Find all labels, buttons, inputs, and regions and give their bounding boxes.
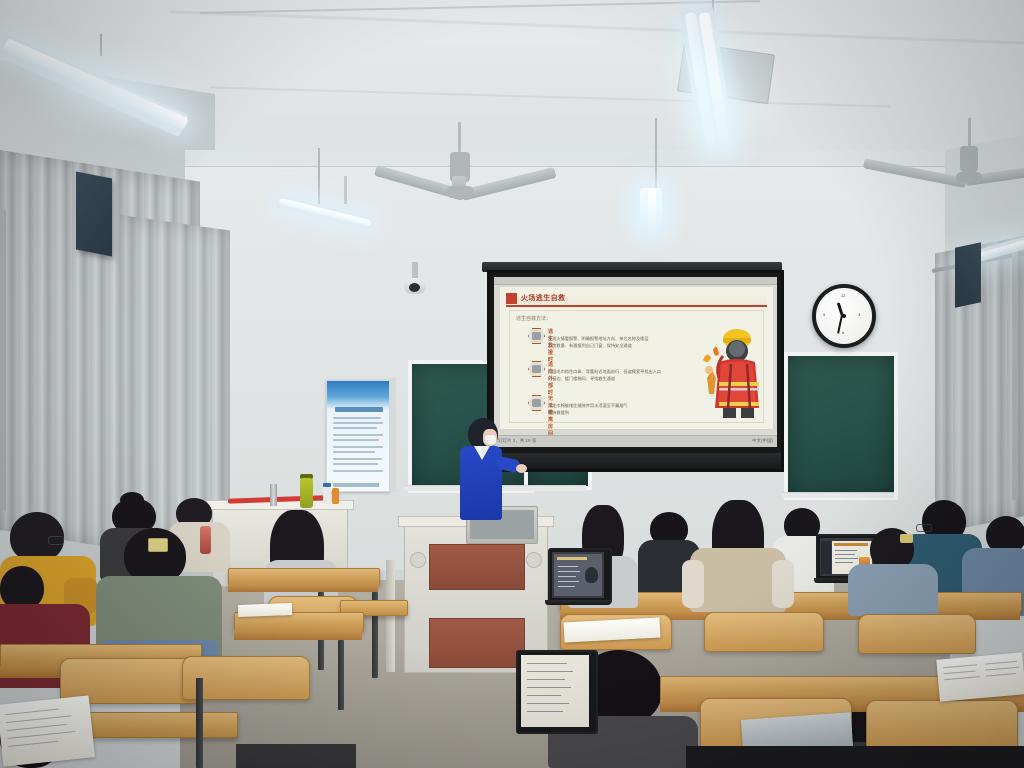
laptop-screen xyxy=(521,655,589,727)
chalkboard-right-panel xyxy=(784,352,898,500)
laptop-slide-text-line xyxy=(558,571,580,572)
laptop-doc-text-line xyxy=(527,695,561,696)
powerpoint-window: 火场逃生自救 逃生自救方法： 逃生救援时 发现火情要报警、明确报警地址方向、单位… xyxy=(494,277,777,447)
laptop-doc-text-line xyxy=(527,711,563,712)
clock-face: 12 3 6 9 xyxy=(818,290,870,342)
firefighter-illustration xyxy=(693,326,759,418)
laptop-doc-text-line xyxy=(527,687,571,688)
desk-apron xyxy=(234,630,362,640)
language-status: 中文(中国) xyxy=(752,438,773,444)
laptop-doc-text-line xyxy=(527,679,565,680)
poster-text-line xyxy=(333,446,383,448)
slide-bullet-3-line-1: 用毛巾棉被堵住缝隙并用水浸湿至不漏烟气 xyxy=(548,403,628,409)
light-suspension-rod xyxy=(100,34,102,56)
desk-apron xyxy=(228,584,378,592)
handwritten-note-bottom-left[interactable] xyxy=(0,695,95,766)
instructor-hand xyxy=(516,464,527,473)
poster-frame-strip xyxy=(390,378,396,492)
slide-title-bar: 火场逃生自救 xyxy=(506,292,767,307)
book-text-line xyxy=(985,661,1017,665)
clock-numeral: 9 xyxy=(823,312,825,317)
book-text-line xyxy=(943,664,977,668)
student-glasses-icon xyxy=(48,536,64,545)
lectern-speaker-grille-left xyxy=(410,552,426,568)
laptop-slide-title-bar xyxy=(834,543,868,546)
student-torso xyxy=(848,564,938,616)
blue-notice-poster xyxy=(326,380,390,492)
classroom-photo: 火场逃生自救 逃生自救方法： 逃生救援时 发现火情要报警、明确报警地址方向、单位… xyxy=(0,0,1024,768)
projector-screen[interactable]: 火场逃生自救 逃生自救方法： 逃生救援时 发现火情要报警、明确报警地址方向、单位… xyxy=(487,270,784,472)
laptop-base xyxy=(545,600,611,605)
open-textbook-right[interactable] xyxy=(936,652,1024,701)
poster-text-line xyxy=(333,439,379,441)
laptop-slide-text-line xyxy=(558,576,576,577)
poster-text-line xyxy=(333,422,383,424)
slide-surface: 火场逃生自救 逃生自救方法： 逃生救援时 发现火情要报警、明确报警地址方向、单位… xyxy=(499,286,774,430)
fan-hub-cap xyxy=(956,172,982,183)
student-hair-clip-icon xyxy=(900,534,913,543)
tube-light-mid-b xyxy=(648,188,656,232)
orange-bottle xyxy=(332,488,339,504)
poster-title-band xyxy=(335,407,383,412)
laptop-thumbnail-pane xyxy=(821,541,831,574)
laptop-doc-text-line xyxy=(527,663,567,664)
wall-cornice xyxy=(185,150,945,167)
slide-bullet-1-line-2: 及房数量、有通报到自己门窗、保持安全通道 xyxy=(548,343,632,349)
window-frame-left xyxy=(0,210,6,511)
stacked-papers-left[interactable] xyxy=(238,603,292,617)
laptop-slide-text-line xyxy=(835,550,857,551)
laptop-doc-text-line xyxy=(527,703,569,704)
wall-clock: 12 3 6 9 xyxy=(812,284,876,348)
note-text-line xyxy=(8,741,58,747)
slide-title: 火场逃生自救 xyxy=(521,293,565,303)
green-thermos-bottle xyxy=(300,478,313,508)
clock-center-pin xyxy=(842,314,846,318)
projector-screen-bottom-bar xyxy=(490,453,781,469)
slide-lead-text: 逃生自救方法： xyxy=(516,315,551,322)
slide-content-frame: 逃生自救方法： 逃生救援时 发现火情要报警、明确报警地址方向、单位名称及楼层 及… xyxy=(509,310,764,423)
water-bottle xyxy=(200,526,211,554)
student-shirt-sleeve xyxy=(772,560,794,608)
book-text-line xyxy=(944,670,976,674)
light-suspension-rod xyxy=(318,148,320,206)
poster-text-line xyxy=(333,463,378,465)
window-frame-right xyxy=(1012,250,1018,500)
instructor-face-mask xyxy=(485,435,496,444)
laptop-lid xyxy=(548,548,612,604)
slide-bullet-3-line-2: 等待救援到 xyxy=(548,410,569,416)
hexagon-rescue-icon xyxy=(528,328,545,344)
laptop-lid xyxy=(516,650,598,734)
laptop-slide-text-line xyxy=(835,562,853,563)
student-glasses-icon xyxy=(916,524,932,532)
poster-text-line xyxy=(333,434,383,436)
poster-text-line xyxy=(333,451,375,453)
note-text-line xyxy=(7,724,67,731)
book-text-line xyxy=(944,676,980,680)
wall-speaker-left xyxy=(76,172,112,257)
student-shirt-sleeve xyxy=(682,560,704,608)
book-text-line xyxy=(985,667,1019,671)
fan-hub-cap xyxy=(446,186,474,198)
poster-footer-band xyxy=(333,483,379,487)
note-text-line xyxy=(5,709,59,716)
laptop-doc-text-line xyxy=(527,671,573,672)
foreground-shadow xyxy=(686,746,1024,768)
laptop-slide-title-bar xyxy=(557,557,587,560)
lectern-speaker-grille-right xyxy=(526,552,542,568)
chair-back xyxy=(866,700,1018,750)
student-hair-clip-icon xyxy=(148,538,168,552)
light-suspension-rod xyxy=(655,118,657,188)
clock-numeral: 3 xyxy=(858,312,860,317)
poster-text-line xyxy=(333,458,382,460)
desk-leg xyxy=(196,678,203,768)
laptop-slide-portrait xyxy=(585,567,598,583)
note-text-line xyxy=(8,731,76,739)
powerpoint-status-bar: 幻灯片 3，共 18 张 中文(中国) xyxy=(494,435,777,447)
foreground-shadow-left xyxy=(236,744,356,768)
firefighter-icon xyxy=(693,326,759,418)
slide-bullet-1-line-1: 发现火情要报警、明确报警地址方向、单位名称及楼层 xyxy=(548,336,649,342)
clock-numeral: 12 xyxy=(841,293,845,298)
student-hair-bun xyxy=(120,492,144,508)
powerpoint-toolbar[interactable] xyxy=(494,277,777,285)
poster-text-line xyxy=(333,427,377,429)
note-text-line xyxy=(6,715,72,723)
laptop-slide-text-line xyxy=(558,586,575,587)
slide-bullet-2-line-1: 用湿毛巾捂住口鼻、弯腰贴近地面前行、低姿摸索寻找出入口 xyxy=(548,369,661,375)
chalk-tray-right xyxy=(782,492,894,498)
wall-speaker-right xyxy=(955,242,981,308)
silver-cylinder xyxy=(270,484,277,506)
desk-leg xyxy=(338,640,344,710)
white-bottle xyxy=(323,486,331,504)
lectern-front-panel-lower xyxy=(429,618,525,668)
hexagon-shelter-icon xyxy=(528,395,545,411)
slide-title-accent-chip xyxy=(506,293,517,304)
book-text-line xyxy=(986,673,1016,677)
hexagon-exit-icon xyxy=(528,361,545,377)
lectern-side-post xyxy=(386,560,395,672)
laptop-slide-text-line xyxy=(558,581,579,582)
camera-lens-icon xyxy=(409,283,420,292)
chair-back xyxy=(704,612,824,652)
laptop-slide-content xyxy=(554,554,602,596)
poster-text-line xyxy=(333,417,381,419)
clock-numeral: 6 xyxy=(842,330,844,335)
laptop-slide-text-line xyxy=(558,566,578,567)
laptop-screen xyxy=(552,552,604,598)
slide-bullet-2-line-2: 门窗边、楼门楼梯间、寻找救生通道 xyxy=(548,376,615,382)
bottle-blue-cap xyxy=(323,483,331,487)
instructor xyxy=(452,418,514,528)
laptop-slide-text-line xyxy=(835,558,858,559)
chair-back xyxy=(858,614,976,654)
lectern-front-panel-upper xyxy=(429,544,525,590)
fan-downrod xyxy=(344,176,347,204)
laptop-slide-text-line xyxy=(835,554,855,555)
projected-slide-canvas: 火场逃生自救 逃生自救方法： 逃生救援时 发现火情要报警、明确报警地址方向、单位… xyxy=(494,277,777,447)
fan-motor-housing xyxy=(960,146,978,172)
poster-text-line xyxy=(333,470,383,472)
